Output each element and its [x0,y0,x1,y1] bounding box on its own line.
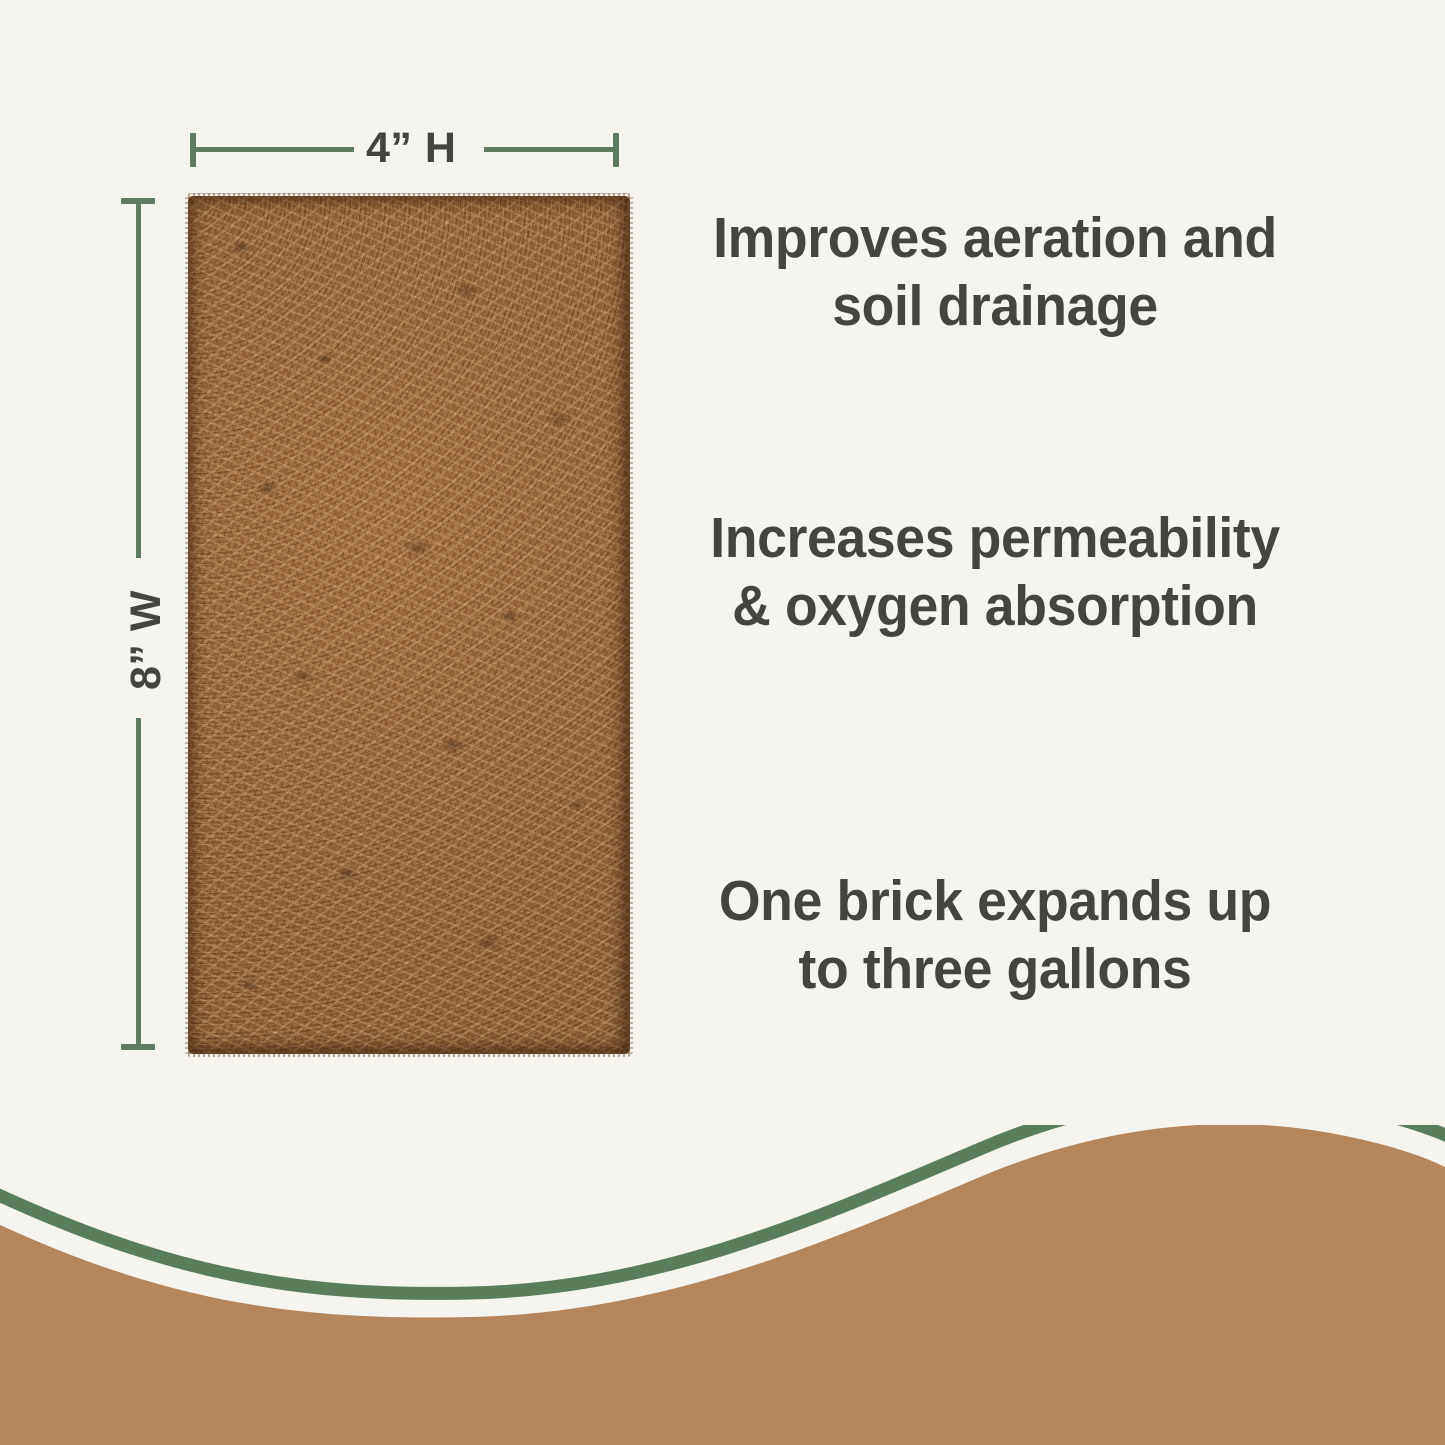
bottom-wave-decoration [0,1125,1445,1445]
wave-fill-shape [0,1125,1445,1445]
feature-text-expansion: One brick expands up to three gallons [708,868,1281,1004]
width-dimension-line-left [194,147,354,152]
coco-coir-brick-image [188,196,630,1054]
height-dimension-line-bottom [136,718,141,1048]
height-dimension-label: 8” W [122,590,171,690]
feature-text-aeration: Improves aeration and soil drainage [708,205,1281,341]
brick-texture [188,196,630,1054]
width-dimension-label: 4” H [366,124,456,173]
width-dimension-cap-right [613,133,619,167]
height-dimension-line-top [136,202,141,558]
feature-text-permeability: Increases permeability & oxygen absorpti… [708,505,1281,641]
height-dimension-cap-bottom [121,1044,155,1050]
infographic-canvas: 4” H 8” W Improves aeration and soil dra… [0,0,1445,1445]
width-dimension-line-right [484,147,618,152]
